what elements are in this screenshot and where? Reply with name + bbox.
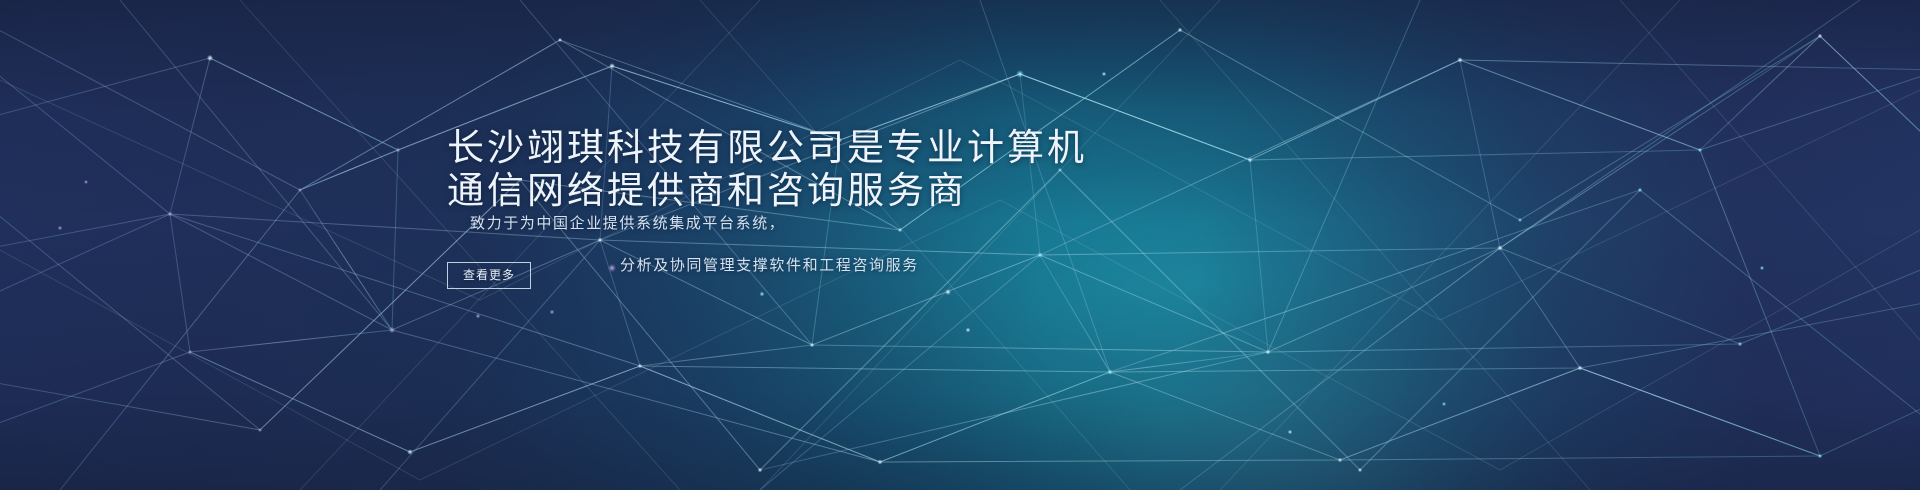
subtitle-line-2: 分析及协同管理支撑软件和工程咨询服务 bbox=[620, 256, 919, 276]
view-more-button[interactable]: 查看更多 bbox=[447, 262, 531, 289]
headline-line-1: 长沙翊琪科技有限公司是专业计算机 bbox=[447, 127, 1087, 168]
headline-line-2: 通信网络提供商和咨询服务商 bbox=[447, 169, 1087, 212]
subtitle-line-1: 致力于为中国企业提供系统集成平台系统， bbox=[470, 215, 785, 232]
banner-headline: 长沙翊琪科技有限公司是专业计算机 通信网络提供商和咨询服务商 bbox=[447, 126, 1087, 212]
banner-content: 长沙翊琪科技有限公司是专业计算机 通信网络提供商和咨询服务商 致力于为中国企业提… bbox=[0, 0, 1920, 490]
banner-subtitle: 致力于为中国企业提供系统集成平台系统， 分析及协同管理支撑软件和工程咨询服务 bbox=[470, 214, 919, 276]
hero-banner: 长沙翊琪科技有限公司是专业计算机 通信网络提供商和咨询服务商 致力于为中国企业提… bbox=[0, 0, 1920, 490]
